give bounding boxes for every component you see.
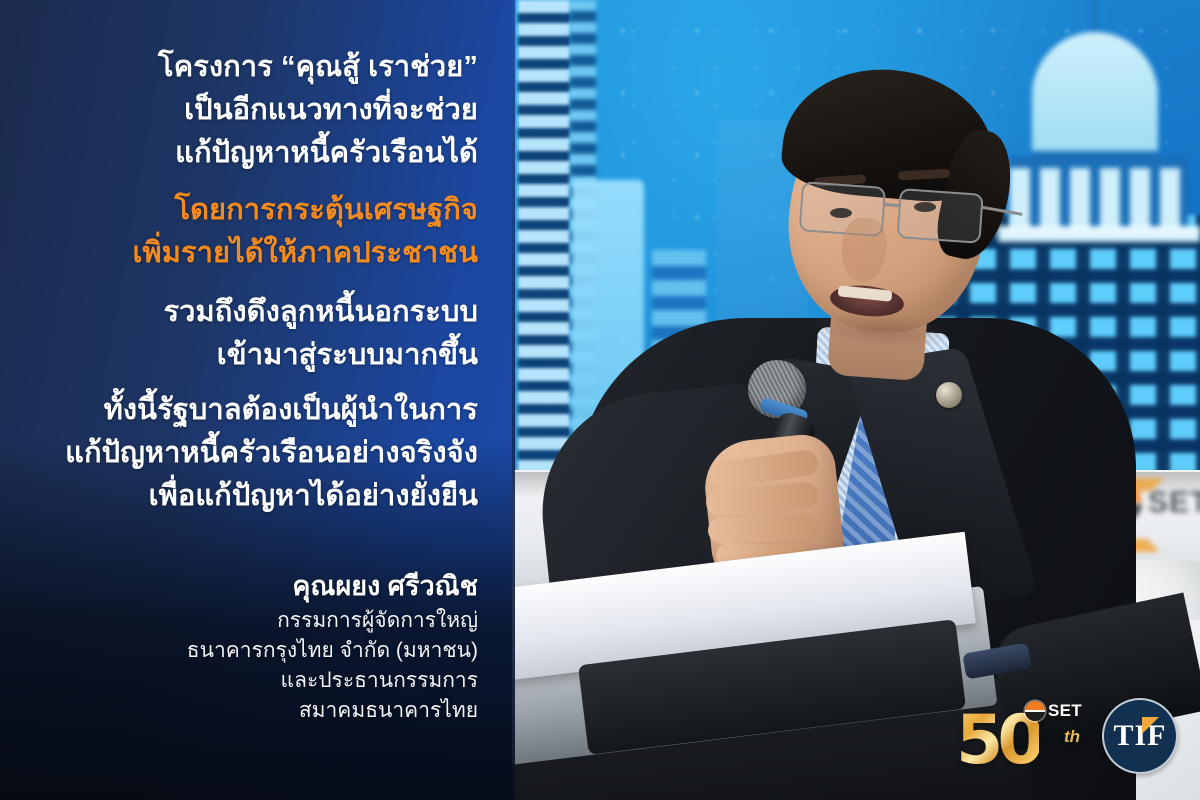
tif-corner-triangle-icon: [1142, 717, 1159, 734]
speaker-role-line: สมาคมธนาคารไทย: [44, 696, 478, 726]
tif-logo[interactable]: TIF: [1102, 698, 1178, 774]
lens-right: [896, 188, 983, 244]
speaker-name: คุณผยง ศรีวณิช: [44, 566, 478, 606]
set-50th-ordinal: th: [1064, 727, 1080, 747]
set-brand-mark: SET: [1025, 701, 1082, 721]
speaker-role-line: ธนาคารกรุงไทย จำกัด (มหาชน): [44, 636, 478, 666]
quote-card: SET: [0, 0, 1200, 800]
quote-line-highlight: โดยการกระตุ้นเศรษฐกิจ: [44, 189, 478, 232]
quote-line: แก้ปัญหาหนี้ครัวเรือนอย่างจริงจัง: [44, 432, 478, 475]
quote-line: ทั้งนี้รัฐบาลต้องเป็นผู้นำในการ: [44, 389, 478, 432]
speaker-photo: SET: [512, 0, 1200, 800]
quote-line-highlight: เพิ่มรายได้ให้ภาคประชาชน: [44, 232, 478, 275]
glasses-bridge: [885, 203, 901, 207]
quote-line: เพื่อแก้ปัญหาได้อย่างยั่งยืน: [44, 475, 478, 518]
finger: [708, 514, 817, 544]
quote-line: เป็นอีกแนวทางที่จะช่วย: [44, 89, 478, 132]
lapel-pin-icon: [936, 382, 962, 408]
quote-panel: โครงการ “คุณสู้ เราช่วย” เป็นอีกแนวทางที…: [0, 0, 512, 800]
set-ball-icon: [1025, 701, 1045, 721]
quote-line-strong: เข้ามาสู่ระบบมากขึ้น: [44, 334, 478, 377]
set-brand-text: SET: [1048, 701, 1082, 721]
speaker-role-line: กรรมการผู้จัดการใหญ่: [44, 606, 478, 636]
quote-line: แก้ปัญหาหนี้ครัวเรือนได้: [44, 132, 478, 175]
quote-line: โครงการ “คุณสู้ เราช่วย”: [44, 46, 478, 89]
panel-photo-divider: [512, 0, 515, 800]
speaker-role-line: และประธานกรรมการ: [44, 666, 478, 696]
speaker-figure: [512, 0, 1200, 800]
logo-group: 50 SET th TIF: [958, 698, 1178, 774]
set-50th-logo[interactable]: 50 SET th: [958, 699, 1076, 773]
quote-text-block: โครงการ “คุณสู้ เราช่วย” เป็นอีกแนวทางที…: [44, 46, 478, 518]
quote-line-strong: รวมถึงดึงลูกหนี้นอกระบบ: [44, 291, 478, 334]
attribution-block: คุณผยง ศรีวณิช กรรมการผู้จัดการใหญ่ ธนาค…: [44, 566, 478, 726]
